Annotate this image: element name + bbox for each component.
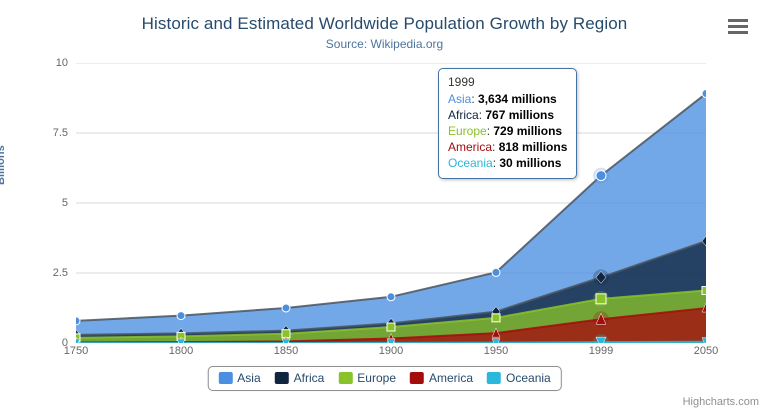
tooltip-value: 3,634 millions	[478, 92, 557, 106]
x-axis-tick-3: 1900	[361, 345, 421, 357]
y-axis-tick-3: 7.5	[28, 127, 68, 139]
legend-label: Africa	[294, 371, 325, 385]
tooltip-value: 30 millions	[499, 156, 561, 170]
legend-item-africa[interactable]: Africa	[275, 371, 325, 385]
legend-swatch-icon-america	[410, 372, 424, 384]
x-axis-tick-2: 1850	[256, 345, 316, 357]
legend-label: America	[429, 371, 473, 385]
legend-label: Oceania	[506, 371, 551, 385]
tooltip-separator: :	[471, 92, 478, 106]
x-axis-tick-1: 1800	[151, 345, 211, 357]
x-axis-tick-4: 1950	[466, 345, 526, 357]
legend-item-europe[interactable]: Europe	[338, 371, 396, 385]
tooltip-series-name: America	[448, 140, 492, 154]
x-axis-tick-6: 2050	[676, 345, 736, 357]
tooltip-series-name: Asia	[448, 92, 471, 106]
menu-bar-2	[728, 25, 748, 28]
menu-bar-3	[728, 31, 748, 34]
tooltip-series-name: Oceania	[448, 156, 493, 170]
legend-item-asia[interactable]: Asia	[218, 371, 260, 385]
legend-swatch-icon-oceania	[487, 372, 501, 384]
highcharts-credits[interactable]: Highcharts.com	[683, 396, 759, 408]
tooltip-separator: :	[492, 140, 499, 154]
plot-area	[76, 63, 706, 343]
chart-title: Historic and Estimated Worldwide Populat…	[0, 14, 769, 34]
highcharts-container: Historic and Estimated Worldwide Populat…	[0, 0, 769, 416]
tooltip-header: 1999	[448, 75, 567, 89]
legend-label: Asia	[237, 371, 260, 385]
tooltip-value: 729 millions	[493, 124, 562, 138]
legend-item-america[interactable]: America	[410, 371, 473, 385]
tooltip-value: 767 millions	[485, 108, 554, 122]
legend-swatch-icon-asia	[218, 372, 232, 384]
tooltip-series-name: Africa	[448, 108, 479, 122]
legend-label: Europe	[357, 371, 396, 385]
tooltip-row-asia: Asia: 3,634 millions	[448, 91, 567, 107]
tooltip-series-name: Europe	[448, 124, 487, 138]
legend-swatch-icon-africa	[275, 372, 289, 384]
chart-legend: AsiaAfricaEuropeAmericaOceania	[207, 366, 561, 391]
menu-bar-1	[728, 19, 748, 22]
chart-tooltip: 1999 Asia: 3,634 millionsAfrica: 767 mil…	[438, 68, 577, 179]
chart-plot-svg	[76, 63, 706, 343]
tooltip-row-africa: Africa: 767 millions	[448, 107, 567, 123]
tooltip-row-oceania: Oceania: 30 millions	[448, 155, 567, 171]
y-axis-tick-4: 10	[28, 57, 68, 69]
tooltip-rows: Asia: 3,634 millionsAfrica: 767 millions…	[448, 91, 567, 171]
tooltip-row-europe: Europe: 729 millions	[448, 123, 567, 139]
tooltip-row-america: America: 818 millions	[448, 139, 567, 155]
x-axis-tick-5: 1999	[571, 345, 631, 357]
legend-swatch-icon-europe	[338, 372, 352, 384]
y-axis-tick-1: 2.5	[28, 267, 68, 279]
x-axis-tick-0: 1750	[46, 345, 106, 357]
hamburger-menu-icon[interactable]	[726, 18, 750, 36]
legend-item-oceania[interactable]: Oceania	[487, 371, 551, 385]
y-axis-title: Billions	[0, 145, 7, 185]
tooltip-value: 818 millions	[499, 140, 568, 154]
y-axis-tick-2: 5	[28, 197, 68, 209]
chart-subtitle: Source: Wikipedia.org	[0, 37, 769, 51]
